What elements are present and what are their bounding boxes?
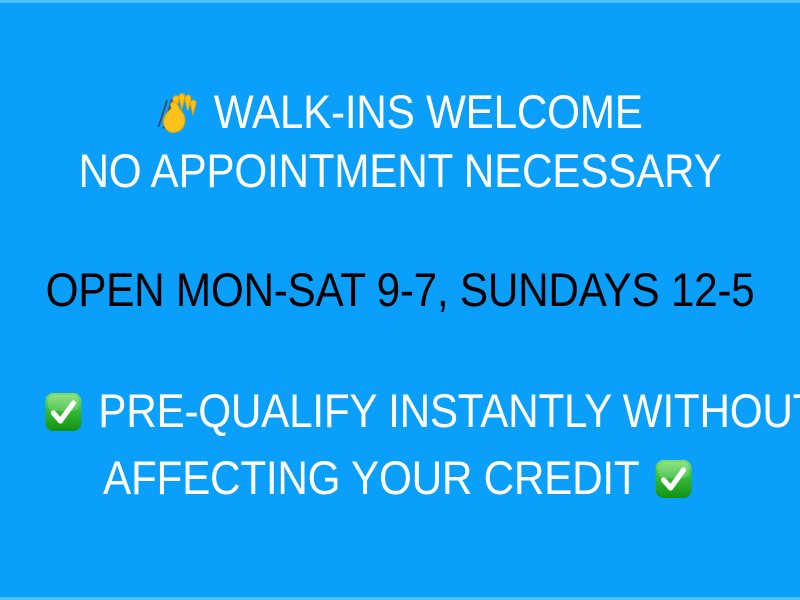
line-text: WALK-INS WELCOME <box>214 85 643 138</box>
headline-pre-qualify: PRE-QUALIFY INSTANTLY WITHOUT <box>40 387 760 434</box>
store-hours-text: OPEN MON-SAT 9-7, SUNDAYS 12-5 <box>40 266 760 313</box>
headline-walk-ins-welcome: WALK-INS WELCOME <box>40 88 760 135</box>
line-text: OPEN MON-SAT 9-7, SUNDAYS 12-5 <box>46 263 755 316</box>
line-text: AFFECTING YOUR CREDIT <box>103 451 639 504</box>
headline-affecting-your-credit: AFFECTING YOUR CREDIT <box>40 454 760 501</box>
line-text: NO APPOINTMENT NECESSARY <box>78 144 721 197</box>
promo-sign: WALK-INS WELCOME NO APPOINTMENT NECESSAR… <box>0 0 800 600</box>
headline-no-appointment-necessary: NO APPOINTMENT NECESSARY <box>40 147 760 194</box>
sign-text-block: WALK-INS WELCOME NO APPOINTMENT NECESSAR… <box>0 0 800 600</box>
white-check-mark-icon <box>43 391 83 433</box>
white-check-mark-icon <box>654 458 694 500</box>
line-text: PRE-QUALIFY INSTANTLY WITHOUT <box>98 384 800 437</box>
waving-hand-icon <box>155 92 199 134</box>
